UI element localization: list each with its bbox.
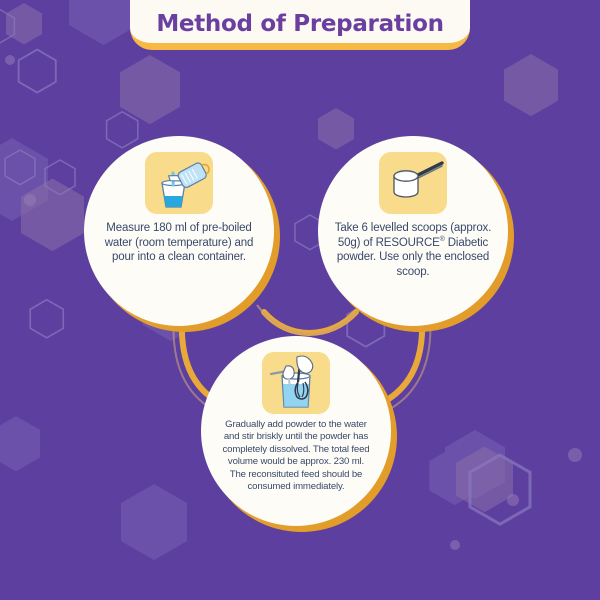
page-title: Method of Preparation — [130, 11, 470, 37]
step-description: Take 6 levelled scoops (approx. 50g) of … — [333, 221, 493, 279]
step-disc: Take 6 levelled scoops (approx. 50g) of … — [318, 136, 508, 326]
step-card-3: Gradually add powder to the water and st… — [201, 336, 397, 532]
title-banner: Method of Preparation — [130, 0, 470, 50]
step-disc: Gradually add powder to the water and st… — [201, 336, 391, 526]
measuring-scoop-icon — [379, 152, 447, 214]
hand-stirring-whisk-in-glass-icon — [262, 352, 330, 414]
step-disc: Measure 180 ml of pre-boiled water (room… — [84, 136, 274, 326]
step-description: Measure 180 ml of pre-boiled water (room… — [99, 221, 259, 265]
jug-pouring-water-into-glass-icon — [145, 152, 213, 214]
step-card-1: Measure 180 ml of pre-boiled water (room… — [84, 136, 280, 332]
step-card-2: Take 6 levelled scoops (approx. 50g) of … — [318, 136, 514, 332]
step-description: Gradually add powder to the water and st… — [220, 419, 372, 493]
infographic-poster: Method of Preparation — [0, 0, 600, 600]
